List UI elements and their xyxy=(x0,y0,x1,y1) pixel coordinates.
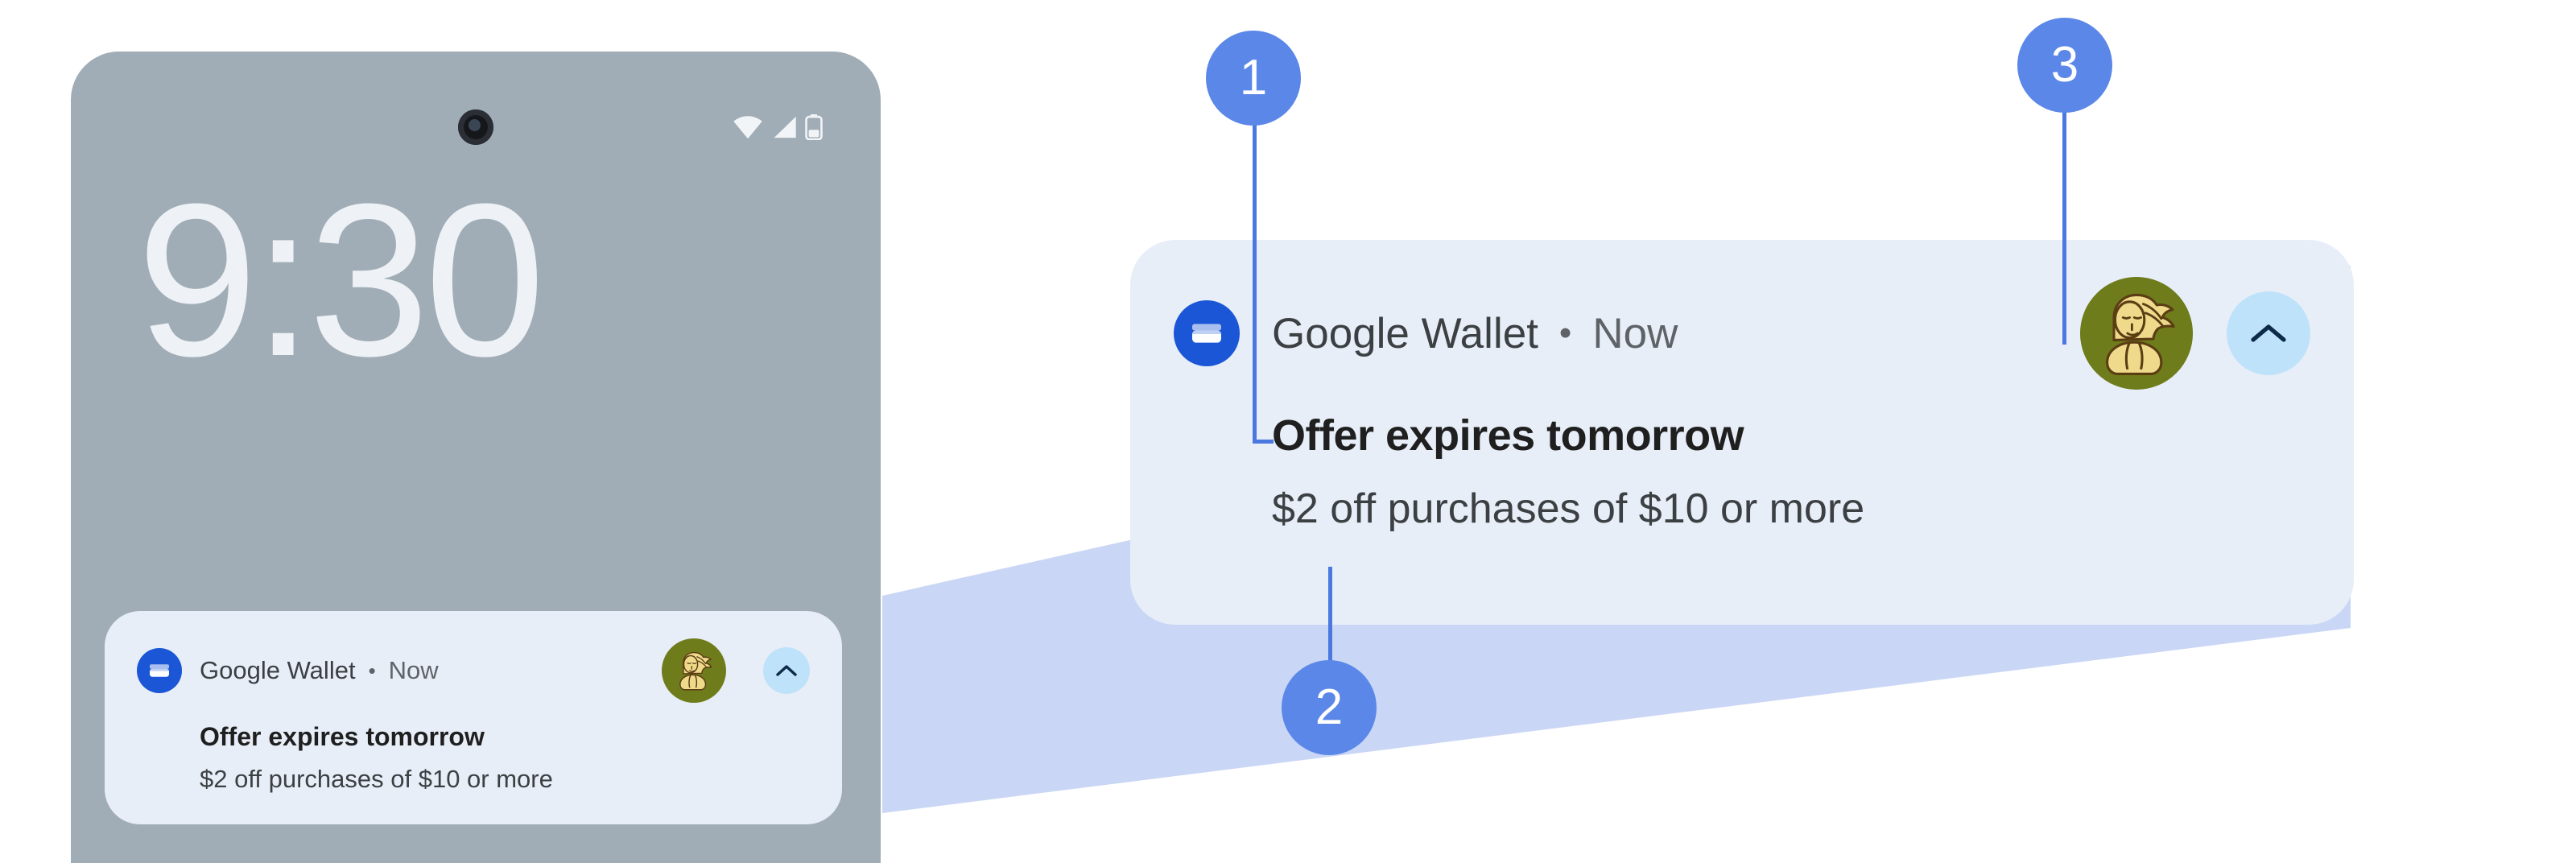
notification-body-large: $2 off purchases of $10 or more xyxy=(1272,485,2310,533)
notification-title-small: Offer expires tomorrow xyxy=(200,722,810,752)
merchant-siren-avatar xyxy=(662,638,726,703)
notification-header-large: Google Wallet • Now xyxy=(1174,277,2310,390)
callout-1: 1 xyxy=(1206,31,1301,126)
callout-1-badge: 1 xyxy=(1206,31,1301,126)
callout-2-badge: 2 xyxy=(1282,660,1377,755)
annotated-screenshot-canvas: 9:30 Google Wallet • Now xyxy=(0,0,2576,863)
callout-3-leader-vertical xyxy=(2062,103,2066,345)
callout-3-badge: 3 xyxy=(2017,18,2112,113)
status-bar xyxy=(733,109,823,145)
callout-2: 2 xyxy=(1282,660,1377,755)
wifi-icon xyxy=(733,115,763,139)
notification-app-line-large: Google Wallet • Now xyxy=(1272,309,1678,358)
google-wallet-icon xyxy=(137,648,182,693)
notification-card-large[interactable]: Google Wallet • Now xyxy=(1130,240,2354,625)
chevron-up-icon-large xyxy=(2250,322,2287,345)
callout-1-leader-vertical xyxy=(1253,113,1257,443)
cell-signal-icon xyxy=(770,115,798,139)
merchant-siren-avatar-large xyxy=(2080,277,2193,390)
notification-header-small: Google Wallet • Now xyxy=(137,638,810,703)
separator-dot-large: • xyxy=(1559,316,1571,351)
chevron-up-icon xyxy=(776,664,797,677)
notification-time-large: Now xyxy=(1592,309,1678,358)
app-name-label-large: Google Wallet xyxy=(1272,309,1538,358)
app-name-label: Google Wallet xyxy=(200,656,356,685)
expand-notification-button-small[interactable] xyxy=(763,647,810,694)
notification-card-small[interactable]: Google Wallet • Now xyxy=(105,611,842,824)
notification-time: Now xyxy=(389,656,439,685)
battery-icon xyxy=(805,114,823,140)
callout-2-leader-vertical xyxy=(1328,567,1332,665)
front-camera-icon xyxy=(458,109,493,145)
notification-app-line-small: Google Wallet • Now xyxy=(200,656,439,685)
google-wallet-icon-large xyxy=(1174,300,1240,366)
phone-device: 9:30 Google Wallet • Now xyxy=(71,52,881,863)
lockscreen-clock: 9:30 xyxy=(137,172,541,390)
callout-3: 3 xyxy=(2017,18,2112,113)
notification-body-small: $2 off purchases of $10 or more xyxy=(200,765,810,794)
notification-title-large: Offer expires tomorrow xyxy=(1272,411,2310,460)
callout-1-leader-horizontal xyxy=(1253,440,1274,444)
separator-dot: • xyxy=(369,660,376,681)
expand-notification-button-large[interactable] xyxy=(2227,291,2310,375)
